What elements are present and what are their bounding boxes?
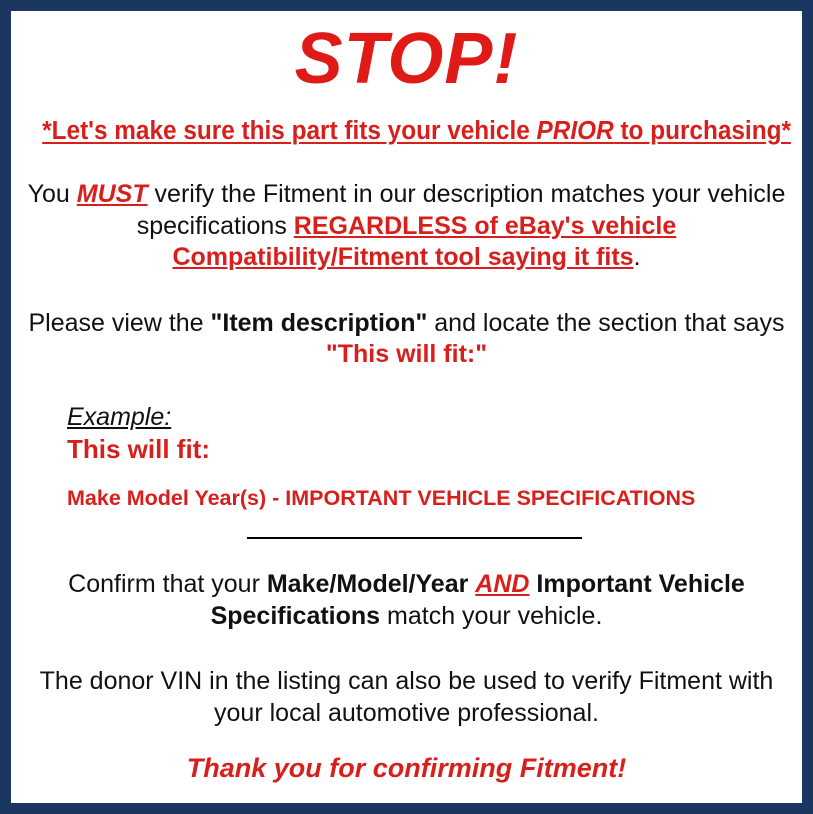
fitment-notice-card: STOP! *Let's make sure this part fits yo…	[0, 0, 813, 814]
confirm-paragraph: Confirm that your Make/Model/Year AND Im…	[29, 539, 784, 632]
example-label-row: Example:	[67, 403, 788, 432]
example-label: Example:	[67, 403, 171, 432]
item-description-label: "Item description"	[211, 309, 428, 337]
must-seg-1: You	[28, 180, 77, 208]
thank-you-line: Thank you for confirming Fitment!	[25, 729, 788, 784]
stop-heading: STOP!	[25, 15, 788, 95]
subtitle-banner: *Let's make sure this part fits your veh…	[42, 95, 771, 145]
must-seg-3: .	[634, 243, 641, 271]
subtitle-prefix: *Let's make sure this part fits your veh…	[42, 117, 536, 145]
locate-seg-2: and locate the section that says	[427, 309, 784, 337]
must-emphasis: MUST	[77, 180, 148, 208]
donor-vin-paragraph: The donor VIN in the listing can also be…	[25, 632, 788, 729]
subtitle-emphasis-prior: PRIOR	[537, 117, 614, 145]
confirm-seg-2: match your vehicle.	[380, 602, 602, 630]
example-fit-heading: This will fit:	[67, 432, 788, 465]
must-verify-paragraph: You MUST verify the Fitment in our descr…	[27, 145, 787, 274]
locate-seg-1: Please view the	[28, 309, 210, 337]
this-will-fit-quote: "This will fit:"	[326, 340, 487, 368]
notice-content: STOP! *Let's make sure this part fits yo…	[11, 11, 802, 803]
example-spec-line: Make Model Year(s) - IMPORTANT VEHICLE S…	[67, 464, 788, 511]
and-emphasis: AND	[475, 570, 529, 598]
make-model-year-emphasis: Make/Model/Year	[267, 570, 468, 598]
locate-section-paragraph: Please view the "Item description" and l…	[25, 274, 788, 371]
example-block: Example: This will fit: Make Model Year(…	[25, 371, 788, 512]
subtitle-suffix: to purchasing*	[614, 117, 791, 145]
confirm-seg-1: Confirm that your	[68, 570, 267, 598]
divider-wrap	[25, 511, 788, 539]
